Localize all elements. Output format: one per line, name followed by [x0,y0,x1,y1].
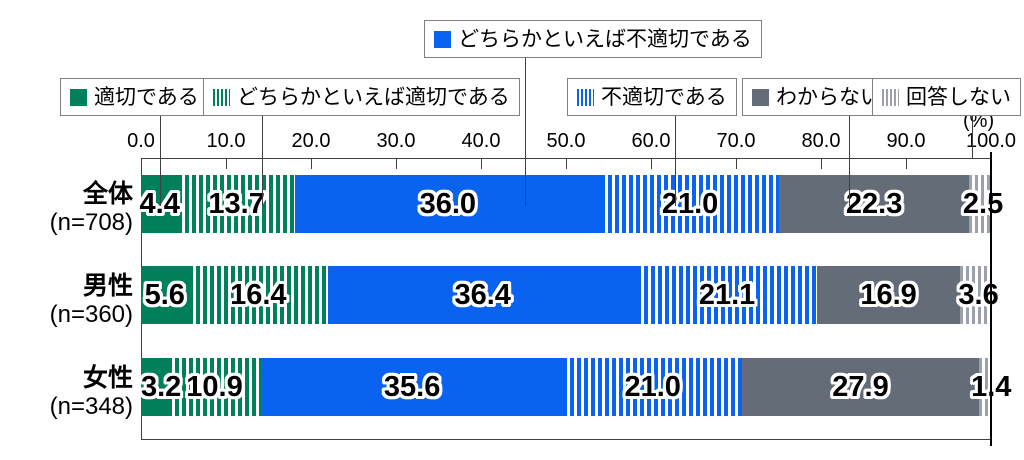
legend-item-futekisetsu[interactable]: 不適切である [567,78,737,116]
legend-item-wakaranai[interactable]: わからない [742,78,891,116]
bar-segment-kaito-shinai[interactable]: 3.6 [960,266,991,324]
axis-tick-0: 0.0 [127,130,155,153]
legend-leader-line-futekisetsu [675,116,676,206]
legend-item-label: どちらかといえば不適切である [458,29,752,50]
category-name: 男性 [0,272,133,301]
striped-green-swatch [213,89,230,106]
bar-value-label: 5.6 [145,279,185,312]
bar-value-label: 16.9 [860,279,916,312]
bar-value-label: 21.1 [699,279,755,312]
bar-value-label: 21.0 [662,188,718,221]
axis-tick-30: 30.0 [377,130,416,153]
legend-leader-line-tekisetsu [160,116,161,206]
axis-tick-100: 100.0 [966,130,1016,153]
bar-segment-wakaranai[interactable]: 16.9 [817,266,961,324]
legend-item-label: 不適切である [601,87,727,108]
legend-leader-line-kaito-shinai [972,116,973,158]
axis-tick-50: 50.0 [547,130,586,153]
bar-segment-dochiraka-tekisetsu[interactable]: 13.7 [178,175,294,233]
axis-tick-80: 80.0 [802,130,841,153]
legend-item-dochiraka-futekisetsu[interactable]: どちらかといえば不適切である [424,20,762,58]
legend-leader-line-dochiraka-tekisetsu [262,116,263,206]
striped-blue-swatch [577,89,594,106]
bar-value-label: 3.6 [958,279,998,312]
axis-tick-10: 10.0 [207,130,246,153]
axis-gridline-60 [651,158,652,169]
solid-green-swatch [70,89,87,106]
legend-leader-line-wakaranai [849,116,850,206]
axis-tick-60: 60.0 [632,130,671,153]
legend-item-label: 適切である [94,87,199,108]
bar-segment-wakaranai[interactable]: 27.9 [742,358,979,416]
axis-gridline-50 [566,158,567,169]
axis-gridline-70 [736,158,737,169]
axis-gridline-30 [396,158,397,169]
bar-segment-wakaranai[interactable]: 22.3 [779,175,969,233]
bar-row-dansei: 5.6 16.4 36.4 21.1 16.9 3.6 [141,266,991,324]
category-n: (n=360) [0,301,133,329]
legend-item-kaito-shinai[interactable]: 回答しない [872,78,1021,116]
legend-leader-line-dochiraka-futekisetsu [525,58,526,206]
bar-segment-dochiraka-tekisetsu[interactable]: 16.4 [189,266,328,324]
bar-value-label: 36.0 [420,188,476,221]
bar-segment-dochiraka-futekisetsu[interactable]: 35.6 [261,358,564,416]
axis-gridline-20 [311,158,312,169]
axis-gridline-40 [481,158,482,169]
axis-tick-20: 20.0 [292,130,331,153]
bar-value-label: 16.4 [230,279,286,312]
category-label-zentai: 全体 (n=708) [0,180,133,236]
bar-segment-dochiraka-tekisetsu[interactable]: 10.9 [168,358,261,416]
solid-blue-swatch [434,31,451,48]
bar-row-josei: 3.2 10.9 35.6 21.0 27.9 1.4 [141,358,991,416]
bar-value-label: 3.2 [141,371,181,404]
legend-item-tekisetsu[interactable]: 適切である [60,78,209,116]
bar-segment-dochiraka-futekisetsu[interactable]: 36.4 [328,266,637,324]
axis-gridline-80 [821,158,822,169]
bar-value-label: 2.5 [963,188,1003,221]
bar-segment-futekisetsu[interactable]: 21.0 [601,175,780,233]
axis-end-line-100 [990,152,992,446]
category-label-josei: 女性 (n=348) [0,364,133,420]
bar-value-label: 27.9 [832,371,888,404]
bar-segment-futekisetsu[interactable]: 21.1 [637,266,816,324]
bar-segment-kaito-shinai[interactable]: 2.5 [969,175,990,233]
axis-tick-70: 70.0 [717,130,756,153]
category-label-dansei: 男性 (n=360) [0,272,133,328]
category-n: (n=708) [0,209,133,237]
striped-gray-swatch [882,89,899,106]
solid-gray-swatch [752,89,769,106]
axis-gridline-10 [226,158,227,169]
bar-value-label: 35.6 [384,371,440,404]
bar-row-zentai: 4.4 13.7 36.0 21.0 22.3 2.5 [141,175,991,233]
bar-value-label: 22.3 [846,188,902,221]
bar-value-label: 13.7 [208,188,264,221]
legend-item-label: わからない [776,87,881,108]
axis-tick-90: 90.0 [887,130,926,153]
legend-item-dochiraka-tekisetsu[interactable]: どちらかといえば適切である [203,78,520,116]
bar-value-label: 10.9 [186,371,242,404]
category-name: 女性 [0,364,133,393]
category-name: 全体 [0,180,133,209]
bar-segment-futekisetsu[interactable]: 21.0 [563,358,742,416]
category-n: (n=348) [0,393,133,421]
bar-segment-tekisetsu[interactable]: 3.2 [141,358,168,416]
legend-item-label: 回答しない [906,87,1011,108]
axis-tick-40: 40.0 [462,130,501,153]
axis-gridline-90 [906,158,907,169]
bar-value-label: 21.0 [624,371,680,404]
bar-segment-tekisetsu[interactable]: 5.6 [141,266,189,324]
legend-item-label: どちらかといえば適切である [237,87,510,108]
bar-segment-dochiraka-futekisetsu[interactable]: 36.0 [295,175,601,233]
bar-value-label: 36.4 [454,279,510,312]
